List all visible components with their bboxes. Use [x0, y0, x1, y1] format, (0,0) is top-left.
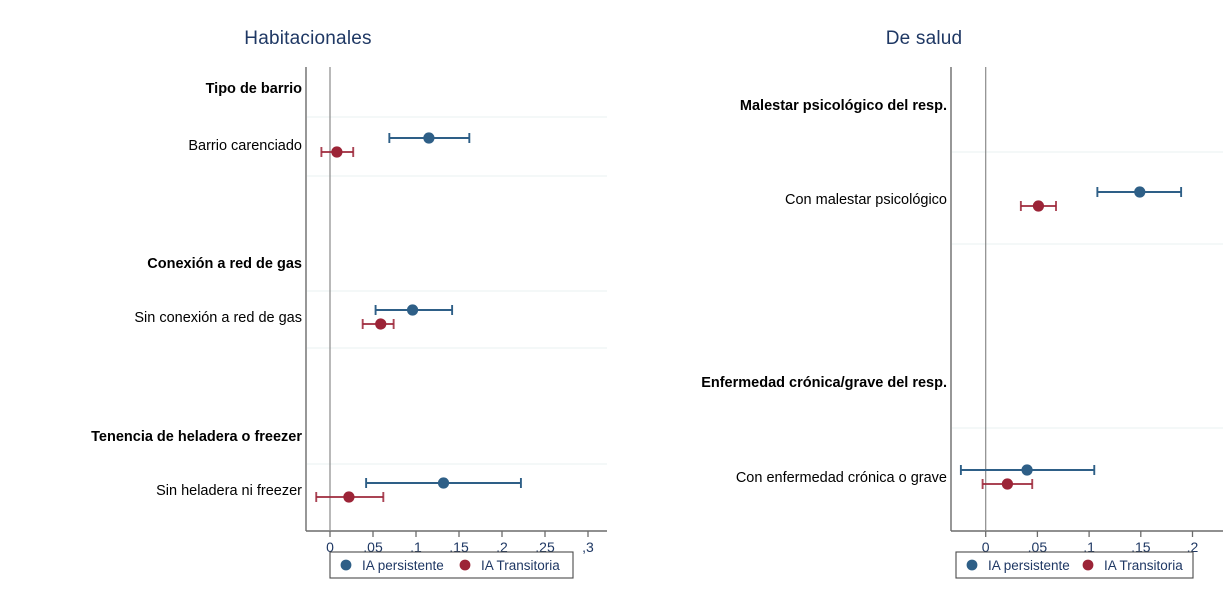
- estimate-persistente: [376, 304, 453, 315]
- x-tick-label-6: ,3: [582, 539, 594, 555]
- category-label: Barrio carenciado: [188, 138, 302, 154]
- category-label: Sin heladera ni freezer: [156, 483, 302, 499]
- category-label: Con malestar psicológico: [785, 192, 947, 208]
- point-marker: [1134, 186, 1145, 197]
- point-marker: [423, 132, 434, 143]
- estimate-transitoria: [1021, 200, 1056, 211]
- point-marker: [438, 477, 449, 488]
- category-label: Sin conexión a red de gas: [134, 310, 302, 326]
- point-marker: [343, 491, 354, 502]
- estimate-persistente: [389, 132, 469, 143]
- point-marker: [375, 318, 386, 329]
- legend-marker-persistente: [341, 560, 352, 571]
- legend-label-persistente: IA persistente: [988, 558, 1070, 573]
- legend-label-persistente: IA persistente: [362, 558, 444, 573]
- panel-title-de-salud: De salud: [616, 28, 1232, 50]
- estimate-persistente: [1097, 186, 1181, 197]
- chart-de-salud: 0,05,1,15,2Malestar psicológico del resp…: [616, 0, 1232, 616]
- estimate-transitoria: [321, 146, 353, 157]
- estimate-transitoria: [316, 491, 383, 502]
- panel-habitacionales: Habitacionales 0,05,1,15,2,25,3Tipo de b…: [0, 0, 616, 616]
- legend-label-transitoria: IA Transitoria: [1104, 558, 1183, 573]
- legend-label-transitoria: IA Transitoria: [481, 558, 560, 573]
- legend-marker-persistente: [967, 560, 978, 571]
- point-marker: [1033, 200, 1044, 211]
- estimate-transitoria: [983, 478, 1033, 489]
- estimate-persistente: [366, 477, 521, 488]
- figure-canvas: Habitacionales 0,05,1,15,2,25,3Tipo de b…: [0, 0, 1232, 616]
- legend-marker-transitoria: [460, 560, 471, 571]
- point-marker: [407, 304, 418, 315]
- group-label: Enfermedad crónica/grave del resp.: [701, 375, 947, 391]
- group-label: Tipo de barrio: [206, 81, 303, 97]
- chart-habitacionales: 0,05,1,15,2,25,3Tipo de barrioBarrio car…: [0, 0, 616, 616]
- estimate-transitoria: [363, 318, 394, 329]
- estimate-persistente: [961, 464, 1094, 475]
- group-label: Malestar psicológico del resp.: [740, 98, 947, 114]
- point-marker: [331, 146, 342, 157]
- group-label: Conexión a red de gas: [147, 256, 302, 272]
- panel-de-salud: De salud 0,05,1,15,2Malestar psicológico…: [616, 0, 1232, 616]
- point-marker: [1002, 478, 1013, 489]
- panel-title-habitacionales: Habitacionales: [0, 28, 616, 50]
- point-marker: [1021, 464, 1032, 475]
- legend-marker-transitoria: [1083, 560, 1094, 571]
- group-label: Tenencia de heladera o freezer: [91, 429, 302, 445]
- category-label: Con enfermedad crónica o grave: [736, 470, 947, 486]
